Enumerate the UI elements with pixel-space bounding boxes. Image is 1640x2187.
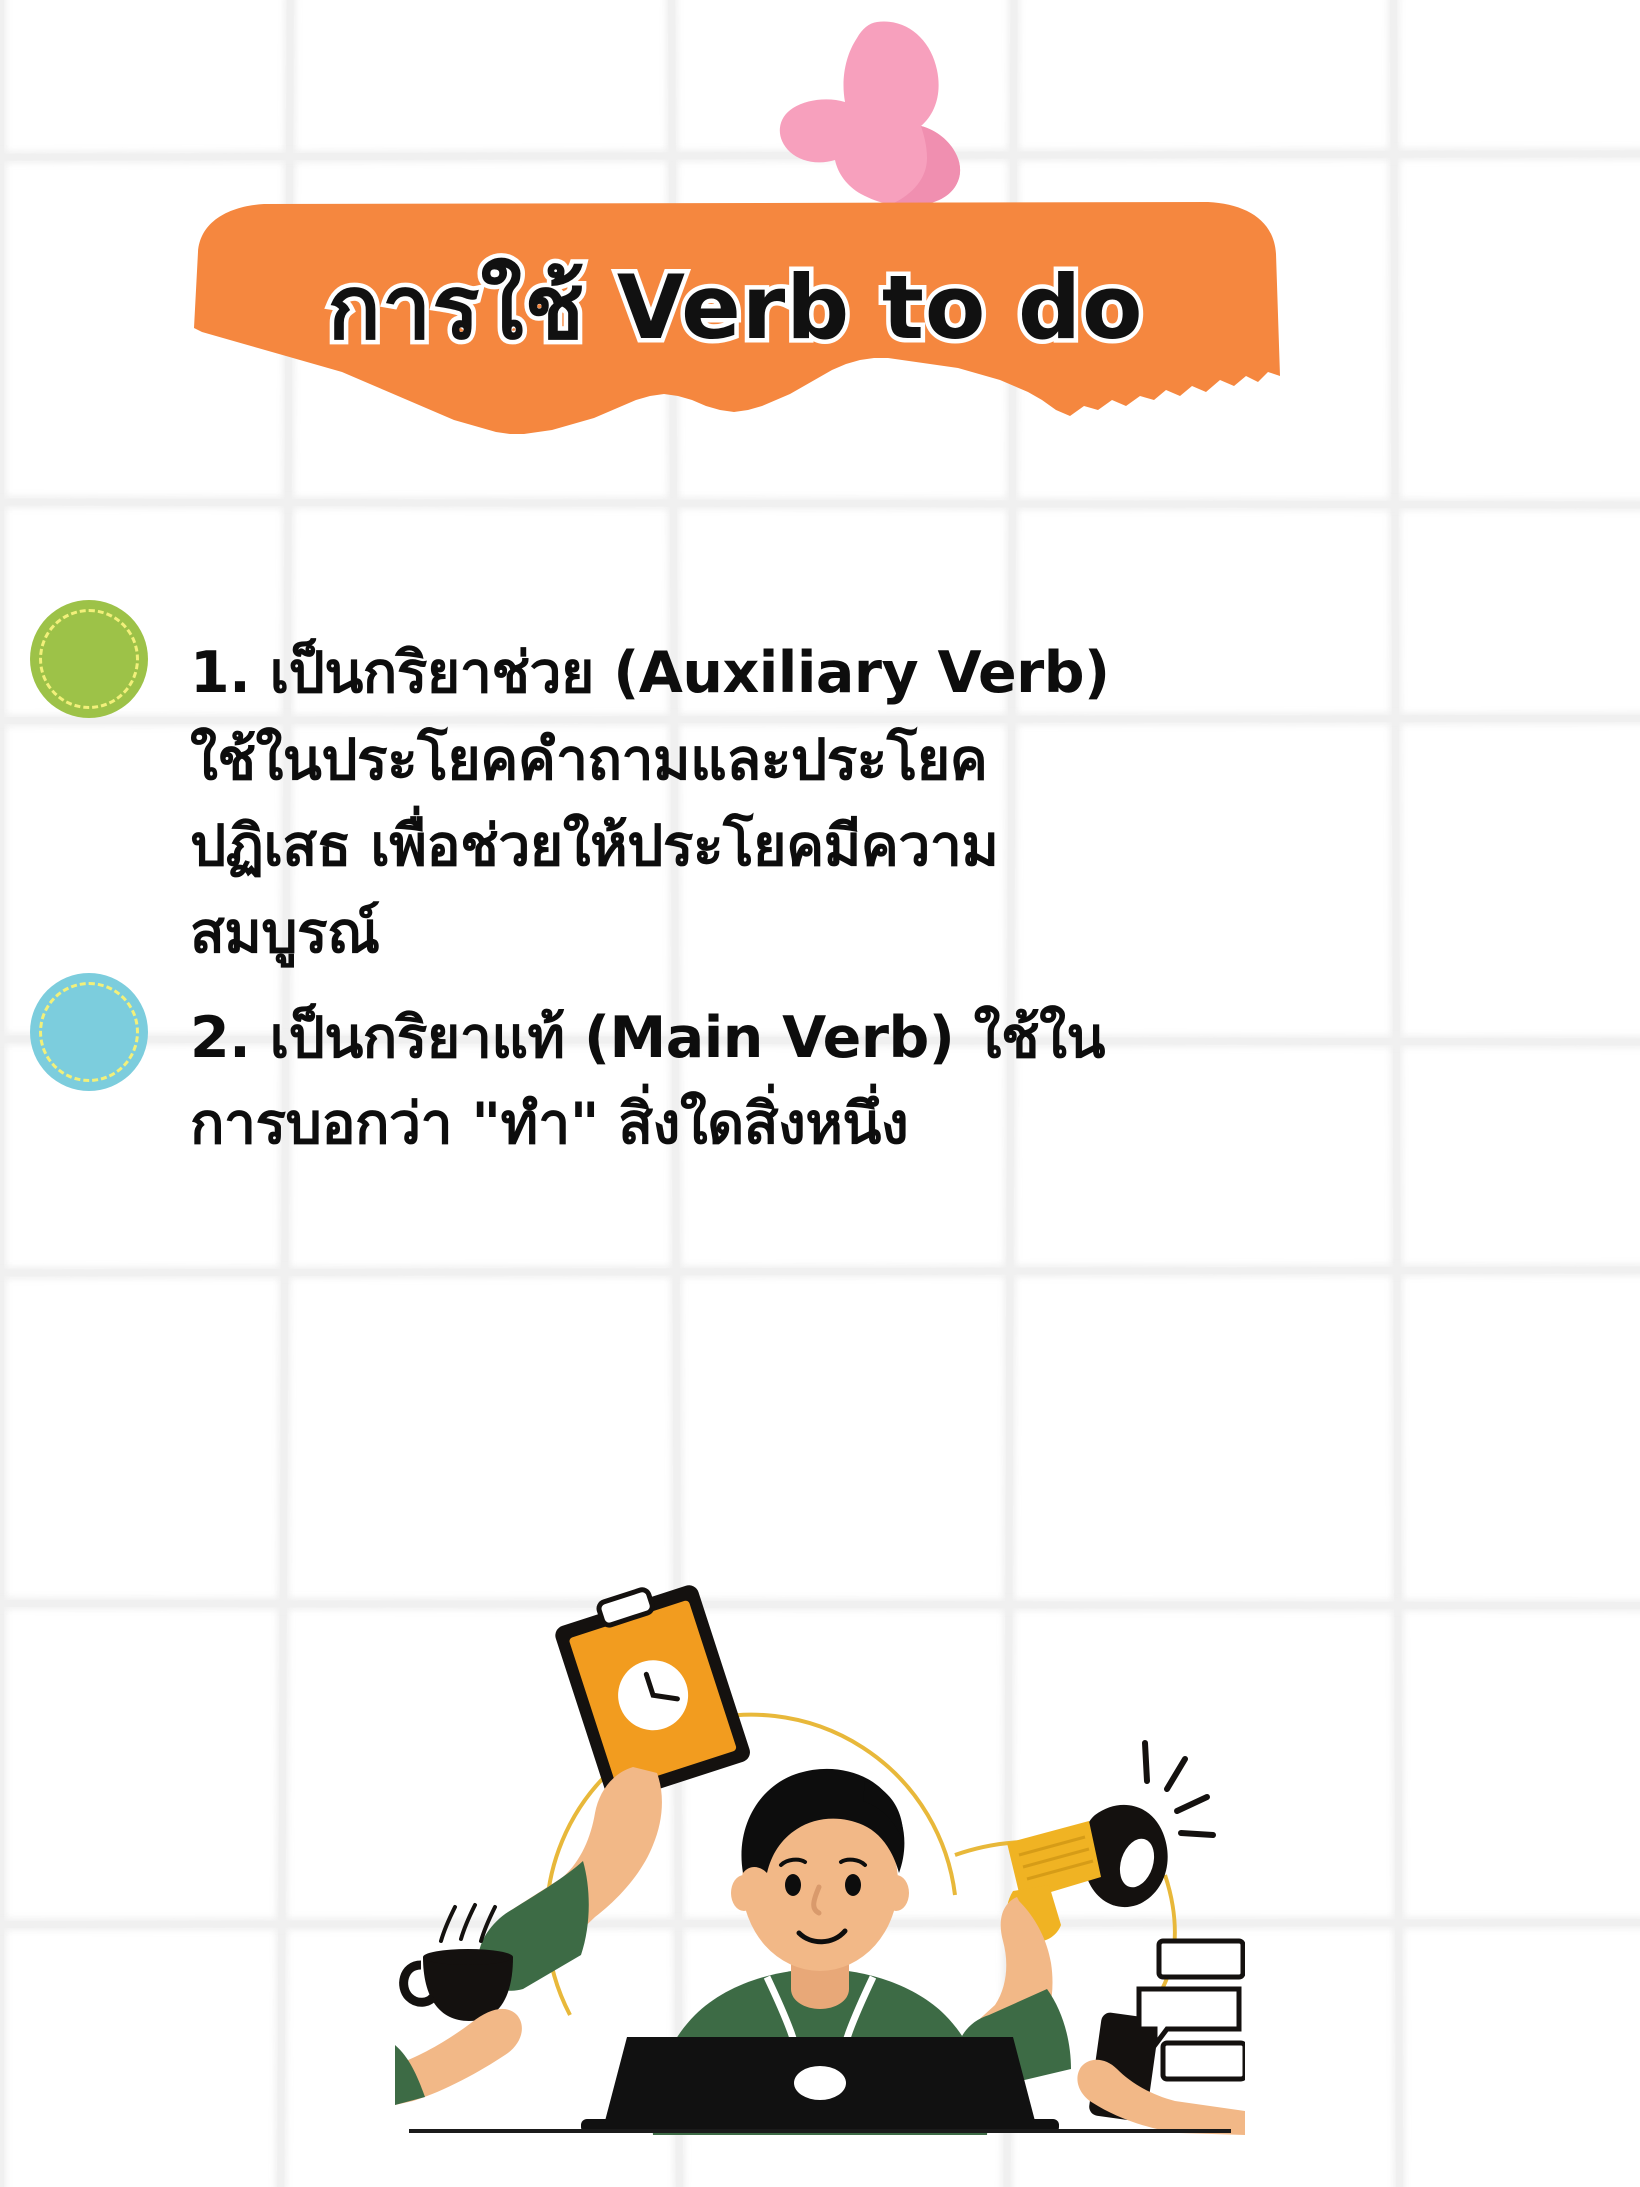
person-head (731, 1769, 909, 1971)
poster-page: การใช้ Verb to do 1. เป็นกริยาช่วย (Auxi… (0, 0, 1640, 2187)
text-line: ปฏิเสธ เพื่อช่วยให้ประโยคมีความ (190, 803, 1550, 890)
speech-bubbles-icon (1139, 1941, 1245, 2079)
text-line: การบอกว่า "ทำ" สิ่งใดสิ่งหนึ่ง (190, 1081, 1550, 1168)
text-line: 2. เป็นกริยาแท้ (Main Verb) ใช้ใน (190, 995, 1550, 1082)
bullet-marker-dash (39, 982, 139, 1082)
list-item: 1. เป็นกริยาช่วย (Auxiliary Verb) ใช้ในป… (0, 630, 1640, 977)
megaphone-icon (1007, 1743, 1213, 1942)
bullet-marker-dash (39, 609, 139, 709)
bullet-marker-green (30, 600, 148, 718)
list-item-text-1: 1. เป็นกริยาช่วย (Auxiliary Verb) ใช้ในป… (190, 630, 1550, 977)
bullet-marker-blue (30, 973, 148, 1091)
list-item-text-2: 2. เป็นกริยาแท้ (Main Verb) ใช้ใน การบอก… (190, 995, 1550, 1168)
text-line: ใช้ในประโยคคำถามและประโยค (190, 717, 1550, 804)
multitasking-person-illustration (395, 1545, 1245, 2135)
clipboard-with-clock-icon (550, 1573, 753, 1805)
laptop-icon (581, 2037, 1059, 2133)
text-line: สมบูรณ์ (190, 890, 1550, 977)
list-item: 2. เป็นกริยาแท้ (Main Verb) ใช้ใน การบอก… (0, 995, 1640, 1168)
text-line: 1. เป็นกริยาช่วย (Auxiliary Verb) (190, 630, 1550, 717)
bullet-list: 1. เป็นกริยาช่วย (Auxiliary Verb) ใช้ในป… (0, 630, 1640, 1186)
page-title: การใช้ Verb to do (168, 262, 1303, 354)
title-banner: การใช้ Verb to do (168, 200, 1303, 448)
